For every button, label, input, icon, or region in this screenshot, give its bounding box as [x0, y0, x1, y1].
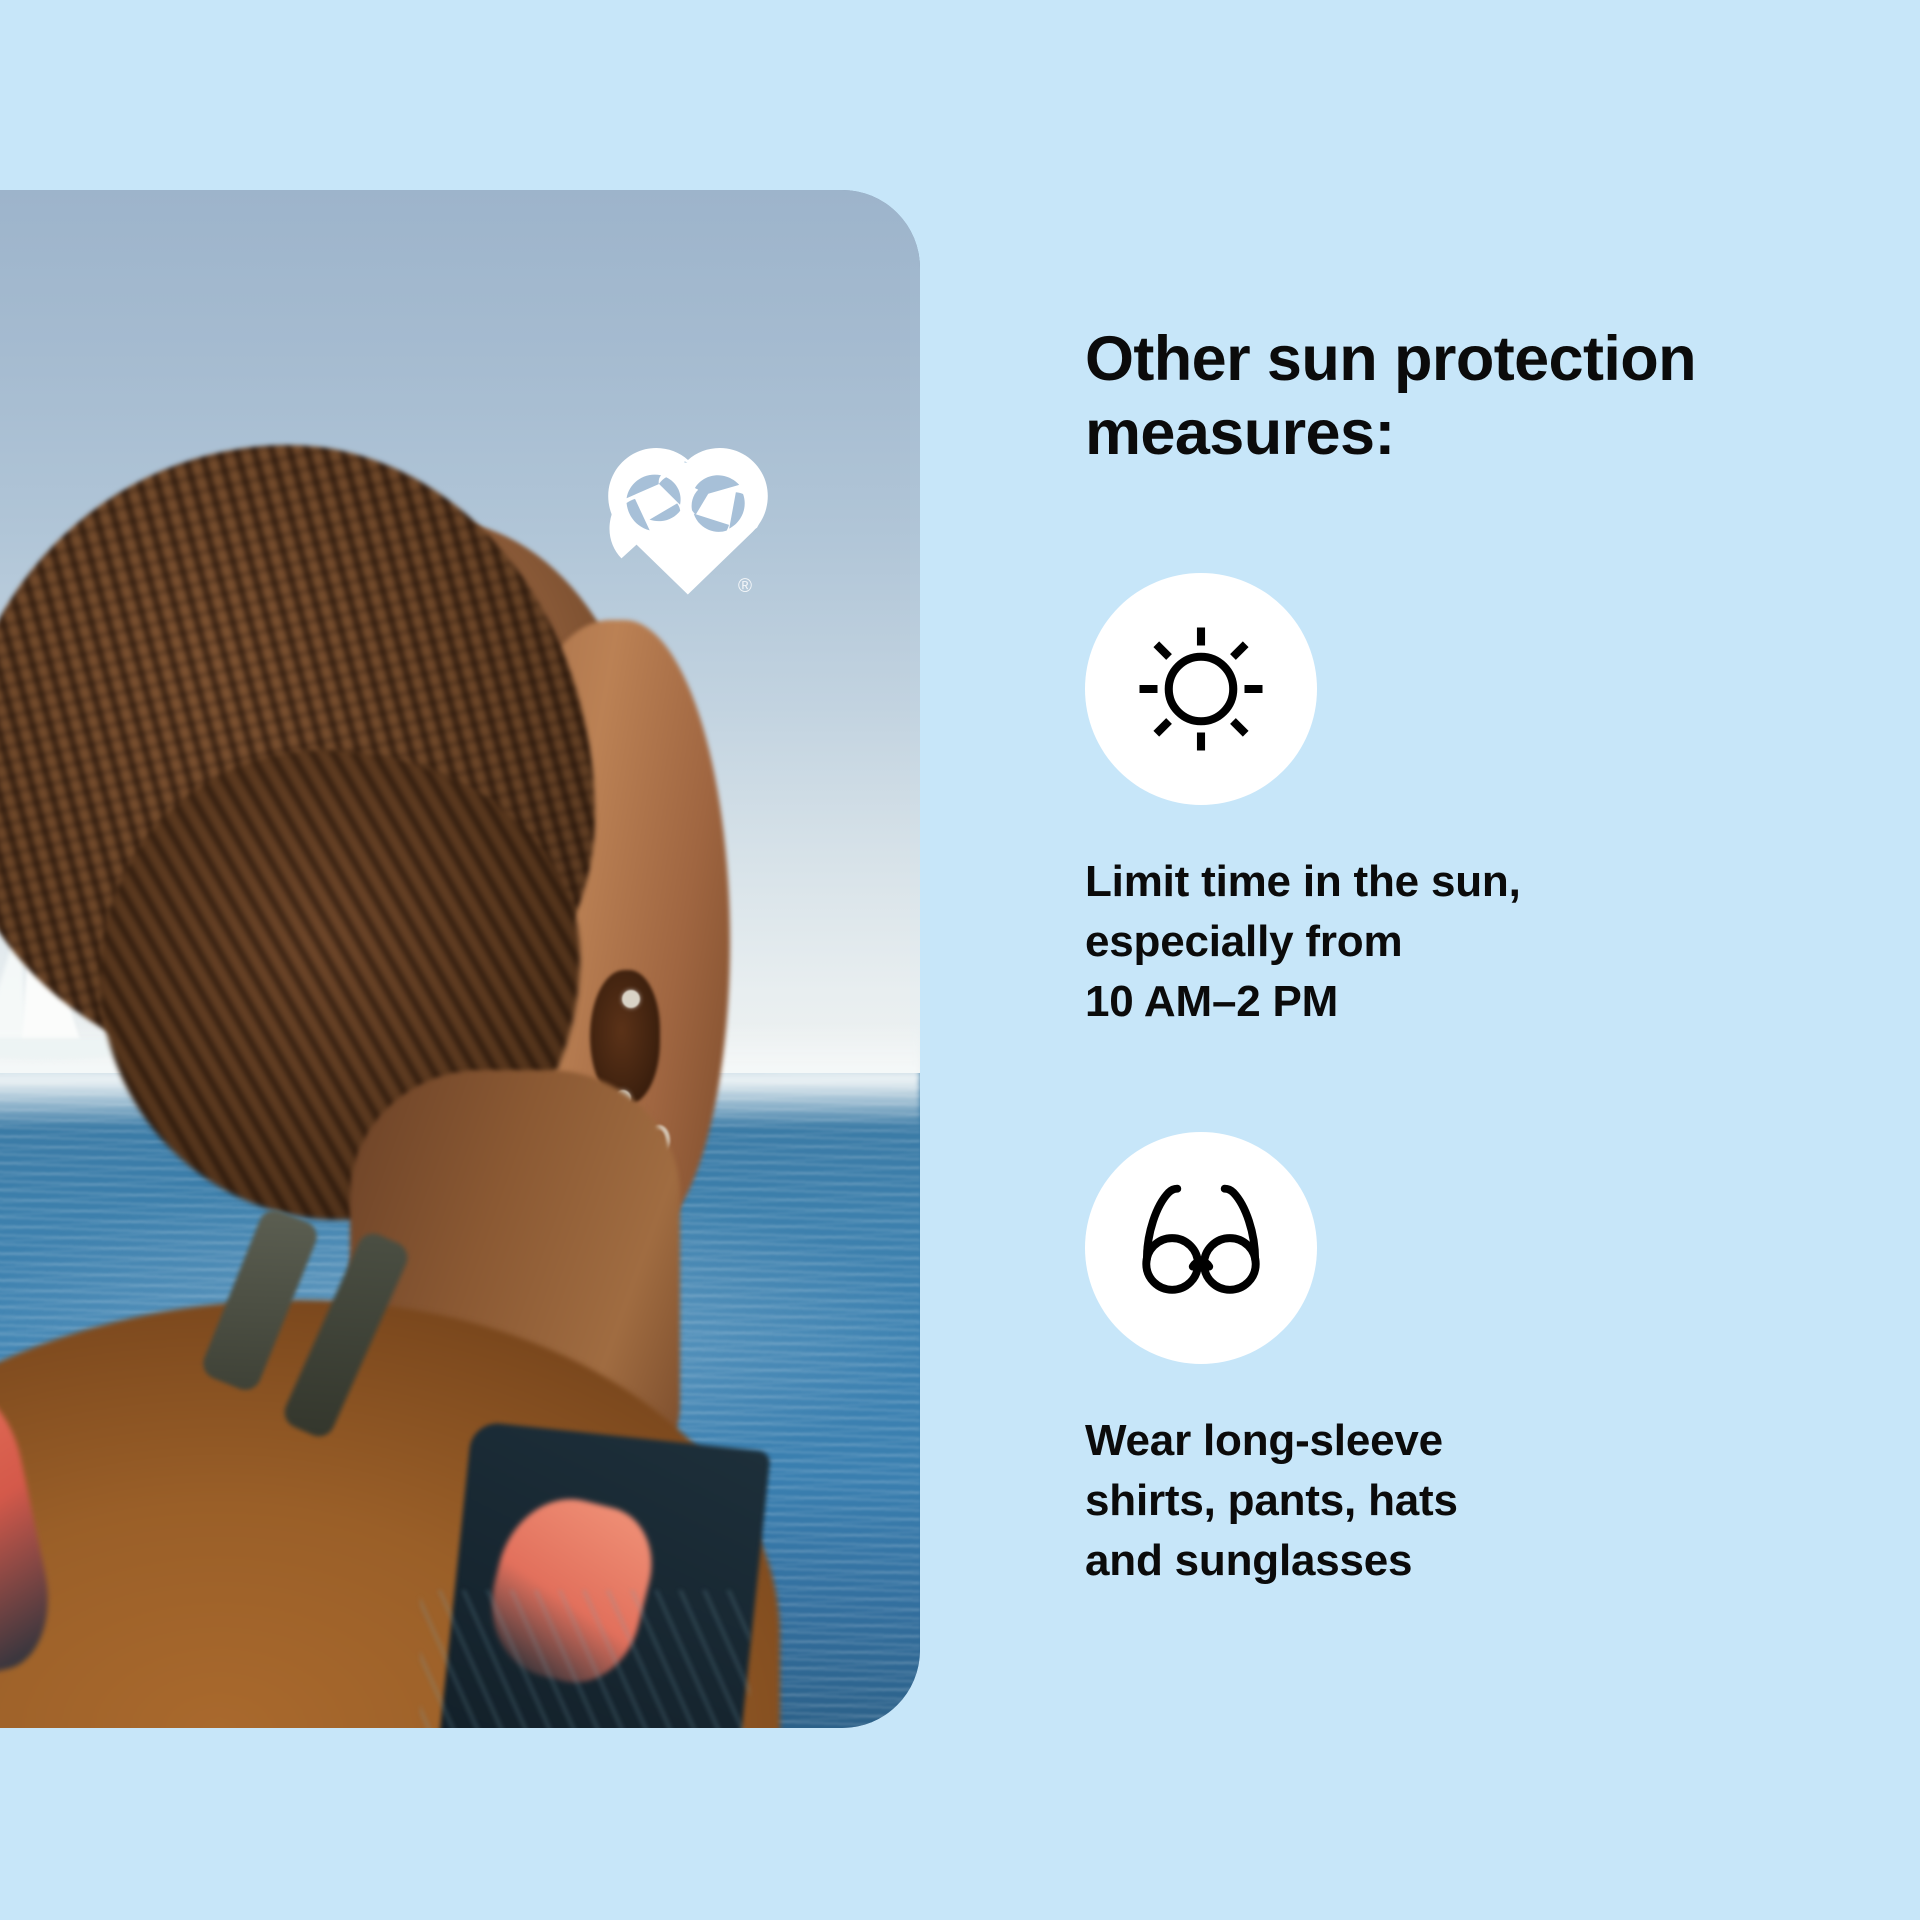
tip-item-limit-sun-time: Limit time in the sun, especially from 1… [1085, 573, 1845, 1031]
tip-text-protective-clothing: Wear long-sleeve shirts, pants, hats and… [1085, 1411, 1845, 1590]
american-heart-association-logo: ® [608, 448, 768, 598]
photo-card: ® [0, 190, 920, 1728]
tip-text-limit-sun-time: Limit time in the sun, especially from 1… [1085, 852, 1845, 1031]
earring-upper [622, 990, 640, 1008]
page-title: Other sun protection measures: [1085, 322, 1845, 471]
swimsuit-pattern [420, 1590, 750, 1728]
content-panel: Other sun protection measures: Limit tim… [1085, 0, 1920, 1920]
woman-figure [0, 190, 920, 1728]
sunglasses-icon [1085, 1132, 1317, 1364]
ocean-photo [0, 190, 920, 1728]
tip-item-protective-clothing: Wear long-sleeve shirts, pants, hats and… [1085, 1132, 1845, 1590]
registered-trademark-symbol: ® [738, 577, 752, 596]
sun-icon [1085, 573, 1317, 805]
